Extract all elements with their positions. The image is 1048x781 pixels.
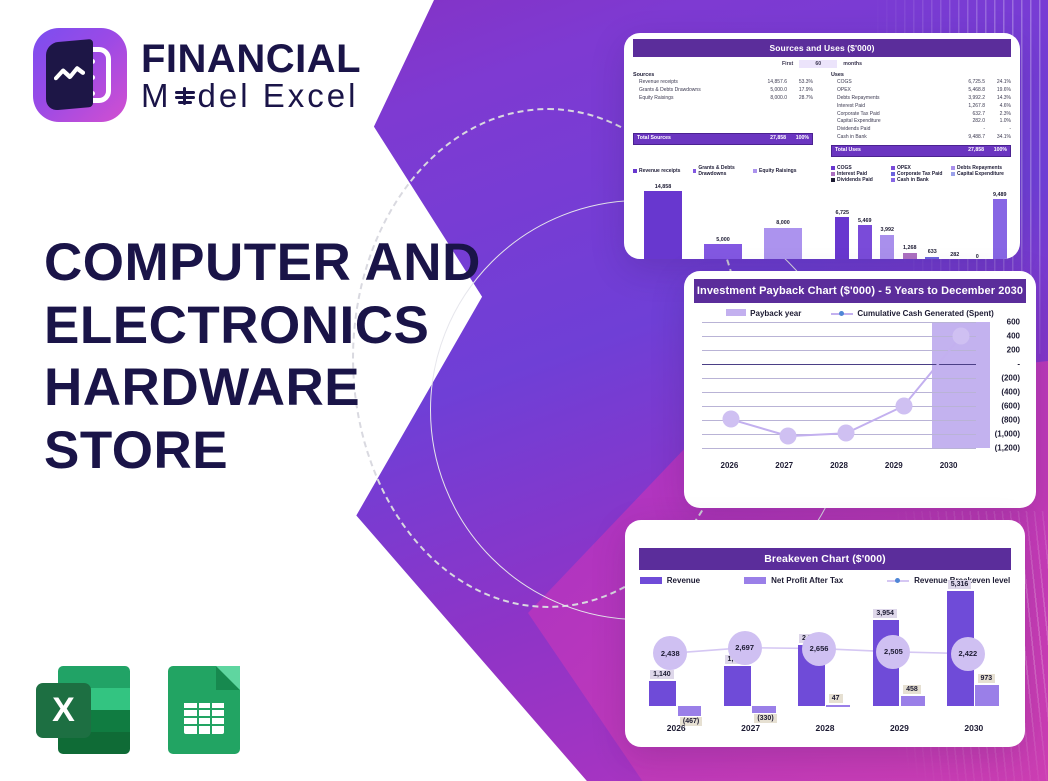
gridline bbox=[702, 336, 976, 337]
brand-logo: FINANCIAL M del Excel bbox=[33, 28, 361, 122]
y-tick-label: (1,200) bbox=[995, 444, 1020, 453]
revenue-value-label: 5,316 bbox=[948, 580, 972, 589]
y-tick-label: (200) bbox=[1001, 374, 1020, 383]
breakeven-data-point: 2,505 bbox=[876, 635, 910, 669]
data-point bbox=[722, 411, 739, 428]
uses-table: Uses COGS6,725.524.1%OPEX5,468.819.6%Deb… bbox=[831, 72, 1011, 157]
bar-column: 6,725 bbox=[831, 185, 854, 259]
bar bbox=[835, 217, 849, 259]
bar bbox=[903, 253, 917, 259]
investment-payback-card[interactable]: Investment Payback Chart ($'000) - 5 Yea… bbox=[684, 271, 1036, 508]
x-tick-label: 2030 bbox=[937, 723, 1011, 733]
total-uses-pct: 100% bbox=[984, 146, 1010, 156]
bar-value-label: 0 bbox=[976, 254, 979, 260]
use-row: Interest Paid1,267.84.6% bbox=[831, 103, 1011, 111]
npat-bar bbox=[826, 705, 850, 707]
bar-column: 1,268 bbox=[899, 185, 922, 259]
payback-chart-title: Investment Payback Chart ($'000) - 5 Yea… bbox=[694, 279, 1026, 303]
bar bbox=[704, 244, 741, 259]
use-amount: 6,725.5 bbox=[949, 79, 985, 87]
source-label: Equity Raisings bbox=[633, 95, 751, 103]
use-label: Capital Expenditure bbox=[831, 118, 949, 126]
use-label: COGS bbox=[831, 79, 949, 87]
data-point bbox=[780, 428, 797, 445]
revenue-bar bbox=[649, 681, 676, 706]
legend-item: Dividends Paid bbox=[831, 177, 891, 183]
source-row: Revenue receipts14,857.653.3% bbox=[633, 79, 813, 87]
bar bbox=[880, 235, 894, 259]
npat-bar bbox=[901, 696, 925, 706]
y-tick-label: (1,000) bbox=[995, 430, 1020, 439]
total-sources-pct: 100% bbox=[786, 134, 812, 144]
bar-value-label: 5,000 bbox=[716, 237, 730, 243]
sources-table: Sources Revenue receipts14,857.653.3%Gra… bbox=[633, 72, 813, 157]
bar-column: 0 bbox=[966, 185, 989, 259]
bar-column: 8,000 bbox=[753, 179, 813, 259]
page-title: COMPUTER AND ELECTRONICS HARDWARE STORE bbox=[44, 232, 544, 482]
use-amount: 9,488.7 bbox=[949, 134, 985, 142]
bar-column: 5,000 bbox=[693, 179, 753, 259]
bar-value-label: 9,489 bbox=[993, 192, 1007, 198]
wave-icon bbox=[54, 65, 85, 84]
use-row: Corporate Tax Paid632.72.3% bbox=[831, 111, 1011, 119]
legend-item: Revenue receipts bbox=[633, 165, 693, 177]
legend-revenue: Revenue bbox=[640, 576, 700, 585]
stacked-bars-icon bbox=[172, 79, 198, 112]
payback-legend: Payback year Cumulative Cash Generated (… bbox=[694, 309, 1026, 318]
source-label: Grants & Debts Drawdowns bbox=[633, 87, 751, 95]
uses-chart-legend: COGSOPEXDebts RepaymentsInterest PaidCor… bbox=[831, 165, 1011, 183]
sources-chart-legend: Revenue receiptsGrants & Debts Drawdowns… bbox=[633, 165, 813, 177]
revenue-value-label: 3,954 bbox=[873, 609, 897, 618]
breakeven-x-axis: 20262027202820292030 bbox=[639, 723, 1011, 733]
bar-column: 14,858 bbox=[633, 179, 693, 259]
breakeven-data-point: 2,422 bbox=[951, 637, 985, 671]
legend-item: Capital Expenditure bbox=[951, 171, 1011, 177]
gridline bbox=[702, 350, 976, 351]
x-tick-label: 2029 bbox=[862, 723, 936, 733]
npat-value-label: (330) bbox=[754, 714, 776, 723]
x-tick-label: 2026 bbox=[702, 461, 757, 470]
bar bbox=[858, 225, 872, 259]
source-amount: 14,857.6 bbox=[751, 79, 787, 87]
use-amount: 3,992.2 bbox=[949, 95, 985, 103]
use-label: Corporate Tax Paid bbox=[831, 111, 949, 119]
npat-bar bbox=[752, 706, 776, 713]
npat-bar bbox=[975, 685, 999, 706]
gridline bbox=[702, 420, 976, 421]
legend-payback-year: Payback year bbox=[726, 309, 801, 318]
sources-heading: Sources bbox=[633, 72, 813, 78]
total-sources-row: Total Sources 27,858 100% bbox=[633, 133, 813, 145]
use-pct: 2.3% bbox=[985, 111, 1011, 119]
bar bbox=[644, 191, 681, 259]
npat-value-label: 973 bbox=[978, 674, 996, 683]
breakeven-data-point: 2,697 bbox=[728, 631, 762, 665]
x-tick-label: 2028 bbox=[788, 723, 862, 733]
use-pct: 24.1% bbox=[985, 79, 1011, 87]
total-sources-amount: 27,858 bbox=[750, 134, 786, 144]
breakeven-plot: 1,140(467)1,848(330)2,814473,9544585,316… bbox=[639, 591, 1011, 719]
google-sheets-icon bbox=[168, 666, 240, 754]
bar-value-label: 633 bbox=[928, 249, 937, 255]
y-tick-label: - bbox=[1017, 360, 1020, 369]
uses-bar-chart: COGSOPEXDebts RepaymentsInterest PaidCor… bbox=[831, 159, 1011, 259]
use-pct: 19.6% bbox=[985, 87, 1011, 95]
y-tick-label: 600 bbox=[1007, 318, 1020, 327]
bar-value-label: 8,000 bbox=[776, 220, 790, 226]
bar-column: 282 bbox=[944, 185, 967, 259]
source-amount: 5,000.0 bbox=[751, 87, 787, 95]
uses-bars: 6,7255,4693,9921,26863328209,489 bbox=[831, 185, 1011, 259]
use-pct: 4.6% bbox=[985, 103, 1011, 111]
legend-item: Equity Raisings bbox=[753, 165, 813, 177]
sheets-grid-icon bbox=[184, 700, 224, 734]
use-pct: 1.0% bbox=[985, 118, 1011, 126]
legend-cumulative-cash: Cumulative Cash Generated (Spent) bbox=[831, 309, 993, 318]
use-pct: - bbox=[985, 126, 1011, 134]
data-point bbox=[953, 328, 970, 345]
gridline bbox=[702, 322, 976, 323]
period-selector-row[interactable]: First 60 months bbox=[633, 60, 1011, 68]
source-label: Revenue receipts bbox=[633, 79, 751, 87]
y-tick-label: 400 bbox=[1007, 332, 1020, 341]
bar-value-label: 5,469 bbox=[858, 218, 872, 224]
period-input[interactable]: 60 bbox=[799, 60, 837, 68]
bar-column: 3,992 bbox=[876, 185, 899, 259]
microsoft-excel-icon: X bbox=[36, 666, 130, 754]
source-row: Equity Raisings8,000.028.7% bbox=[633, 95, 813, 103]
total-uses-amount: 27,858 bbox=[948, 146, 984, 156]
npat-bar bbox=[678, 706, 702, 716]
source-pct: 17.9% bbox=[787, 87, 813, 95]
use-amount: 282.0 bbox=[949, 118, 985, 126]
bar-value-label: 6,725 bbox=[836, 210, 850, 216]
gridline bbox=[702, 378, 976, 379]
use-label: Cash in Bank bbox=[831, 134, 949, 142]
payback-x-axis: 20262027202820292030 bbox=[702, 461, 976, 470]
bar-column: 5,469 bbox=[854, 185, 877, 259]
use-row: Cash in Bank9,488.734.1% bbox=[831, 134, 1011, 142]
source-pct: 53.3% bbox=[787, 79, 813, 87]
data-point bbox=[895, 398, 912, 415]
revenue-bar bbox=[724, 666, 751, 706]
brand-subtitle: M del Excel bbox=[141, 79, 361, 112]
bar bbox=[925, 257, 939, 259]
brand-subtitle-after: del Excel bbox=[198, 79, 359, 112]
uses-heading: Uses bbox=[831, 72, 1011, 78]
revenue-value-label: 1,140 bbox=[650, 670, 674, 679]
total-uses-label: Total Uses bbox=[832, 146, 948, 156]
payback-plot: 600400200-(200)(400)(600)(800)(1,000)(1,… bbox=[702, 322, 1020, 470]
excel-x-badge: X bbox=[36, 683, 91, 738]
npat-value-label: 47 bbox=[829, 694, 843, 703]
gridline bbox=[702, 406, 976, 407]
brand-title: FINANCIAL bbox=[141, 39, 361, 79]
bar-value-label: 282 bbox=[950, 252, 959, 258]
y-tick-label: (400) bbox=[1001, 388, 1020, 397]
bar-value-label: 1,268 bbox=[903, 245, 917, 251]
use-amount: 1,267.8 bbox=[949, 103, 985, 111]
use-row: OPEX5,468.819.6% bbox=[831, 87, 1011, 95]
y-tick-label: (800) bbox=[1001, 416, 1020, 425]
gridline bbox=[702, 364, 976, 365]
total-sources-label: Total Sources bbox=[634, 134, 750, 144]
payback-y-axis: 600400200-(200)(400)(600)(800)(1,000)(1,… bbox=[978, 322, 1020, 448]
legend-item: Cash in Bank bbox=[891, 177, 951, 183]
bar-value-label: 14,858 bbox=[655, 184, 672, 190]
npat-value-label: 458 bbox=[903, 685, 921, 694]
use-pct: 14.3% bbox=[985, 95, 1011, 103]
x-tick-label: 2026 bbox=[639, 723, 713, 733]
poster-canvas: FINANCIAL M del Excel COMPUTER AND ELECT… bbox=[0, 0, 1048, 781]
bar-value-label: 3,992 bbox=[881, 227, 895, 233]
breakeven-chart-title: Breakeven Chart ($'000) bbox=[639, 548, 1011, 570]
use-row: Debts Repayments3,992.214.3% bbox=[831, 95, 1011, 103]
use-label: Dividends Paid bbox=[831, 126, 949, 134]
x-tick-label: 2027 bbox=[713, 723, 787, 733]
use-amount: 632.7 bbox=[949, 111, 985, 119]
use-row: Capital Expenditure282.01.0% bbox=[831, 118, 1011, 126]
use-label: Interest Paid bbox=[831, 103, 949, 111]
sources-bars: 14,8585,0008,000 bbox=[633, 179, 813, 259]
sources-and-uses-card[interactable]: Sources and Uses ($'000) First 60 months… bbox=[624, 33, 1020, 259]
x-tick-label: 2027 bbox=[757, 461, 812, 470]
use-amount: - bbox=[949, 126, 985, 134]
legend-item: Grants & Debts Drawdowns bbox=[693, 165, 753, 177]
sources-bar-chart: Revenue receiptsGrants & Debts Drawdowns… bbox=[633, 159, 813, 259]
breakeven-data-point: 2,656 bbox=[802, 632, 836, 666]
legend-npat: Net Profit After Tax bbox=[744, 576, 843, 585]
gridline bbox=[702, 392, 976, 393]
y-tick-label: 200 bbox=[1007, 346, 1020, 355]
period-prefix: First bbox=[782, 61, 793, 67]
bar bbox=[764, 228, 801, 259]
data-point bbox=[838, 425, 855, 442]
x-tick-label: 2030 bbox=[921, 461, 976, 470]
file-format-icons: X bbox=[36, 666, 240, 754]
bar-column: 633 bbox=[921, 185, 944, 259]
use-label: OPEX bbox=[831, 87, 949, 95]
period-suffix: months bbox=[843, 61, 862, 67]
use-row: COGS6,725.524.1% bbox=[831, 79, 1011, 87]
use-pct: 34.1% bbox=[985, 134, 1011, 142]
x-tick-label: 2028 bbox=[812, 461, 867, 470]
bar bbox=[993, 199, 1007, 259]
source-amount: 8,000.0 bbox=[751, 95, 787, 103]
use-amount: 5,468.8 bbox=[949, 87, 985, 95]
total-uses-row: Total Uses 27,858 100% bbox=[831, 145, 1011, 157]
source-row: Grants & Debts Drawdowns5,000.017.9% bbox=[633, 87, 813, 95]
sources-uses-title: Sources and Uses ($'000) bbox=[633, 39, 1011, 57]
use-label: Debts Repayments bbox=[831, 95, 949, 103]
breakeven-data-point: 2,438 bbox=[653, 636, 687, 670]
breakeven-card[interactable]: Breakeven Chart ($'000) Revenue Net Prof… bbox=[625, 520, 1025, 747]
source-pct: 28.7% bbox=[787, 95, 813, 103]
bar-column: 9,489 bbox=[989, 185, 1012, 259]
use-row: Dividends Paid-- bbox=[831, 126, 1011, 134]
chart-card-icon bbox=[46, 39, 93, 111]
x-tick-label: 2029 bbox=[866, 461, 921, 470]
brand-subtitle-before: M bbox=[141, 79, 172, 112]
gridline bbox=[702, 448, 976, 449]
financial-model-app-icon bbox=[33, 28, 127, 122]
y-tick-label: (600) bbox=[1001, 402, 1020, 411]
